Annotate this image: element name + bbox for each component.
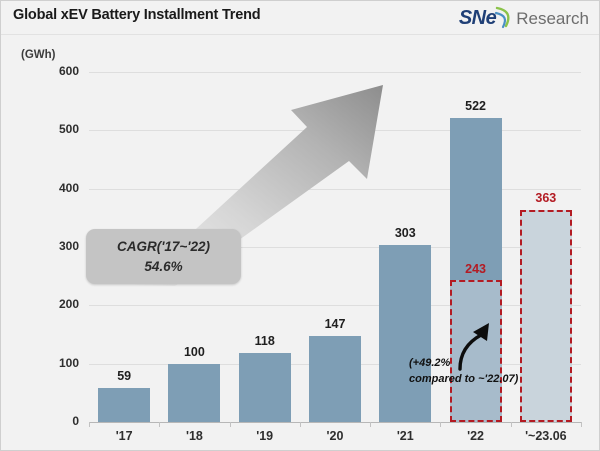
bar-value-label-19: 118 — [225, 334, 305, 348]
sne-research-logo: SNe Research — [459, 5, 589, 31]
x-axis-tickmark-5 — [440, 422, 441, 427]
x-axis-tickmark-0 — [89, 422, 90, 427]
cagr-badge-line2: 54.6% — [144, 257, 182, 277]
bar-19 — [239, 353, 291, 422]
x-axis-tickmark-1 — [159, 422, 160, 427]
bar-17 — [98, 388, 150, 422]
y-axis-unit-label: (GWh) — [21, 49, 55, 61]
y-axis-tick-0: 0 — [21, 414, 79, 428]
page-title: Global xEV Battery Installment Trend — [13, 7, 260, 23]
y-axis-tick-500: 500 — [21, 122, 79, 136]
y-axis-tick-200: 200 — [21, 297, 79, 311]
y-axis-tick-400: 400 — [21, 181, 79, 195]
x-axis-tickmark-3 — [300, 422, 301, 427]
bar-value-label-22: 522 — [436, 99, 516, 113]
bar-value-label-18: 100 — [154, 345, 234, 359]
gridline-600 — [89, 72, 581, 73]
y-axis-tick-100: 100 — [21, 356, 79, 370]
bar-23.06 — [520, 210, 572, 422]
cagr-badge-line1: CAGR('17~'22) — [117, 237, 210, 257]
bar-value-label-17: 59 — [84, 369, 164, 383]
x-axis-tickmark-6 — [511, 422, 512, 427]
chart-canvas: Global xEV Battery Installment Trend SNe… — [0, 0, 600, 451]
bar-21 — [379, 245, 431, 422]
bar-18 — [168, 364, 220, 422]
logo-word-text: Research — [516, 10, 589, 27]
bar-value-label-21: 303 — [365, 226, 445, 240]
growth-callout-line1: (+49.2% — [409, 356, 518, 372]
x-axis-tickmark-4 — [370, 422, 371, 427]
header-divider — [1, 34, 599, 35]
gridline-400 — [89, 189, 581, 190]
gridline-500 — [89, 130, 581, 131]
bar-20 — [309, 336, 361, 422]
x-axis-baseline — [89, 422, 581, 423]
y-axis-tick-600: 600 — [21, 64, 79, 78]
x-axis-tickmark-2 — [230, 422, 231, 427]
cagr-badge: CAGR('17~'22) 54.6% — [86, 229, 241, 284]
x-axis-tickmark-end — [581, 422, 582, 427]
bar-value-label-20: 147 — [295, 317, 375, 331]
growth-callout-line2: compared to ~'22.07) — [409, 372, 518, 388]
bar-value-label-23.06: 363 — [506, 191, 586, 205]
x-axis-tick-23.06: '~23.06 — [501, 429, 591, 443]
logo-brand-text: SNe — [459, 8, 496, 28]
growth-callout-annotation: (+49.2% compared to ~'22.07) — [409, 356, 518, 388]
gridline-200 — [89, 305, 581, 306]
y-axis-tick-300: 300 — [21, 239, 79, 253]
highlight-value-label: 243 — [436, 262, 516, 276]
logo-swoosh-icon — [494, 6, 514, 30]
